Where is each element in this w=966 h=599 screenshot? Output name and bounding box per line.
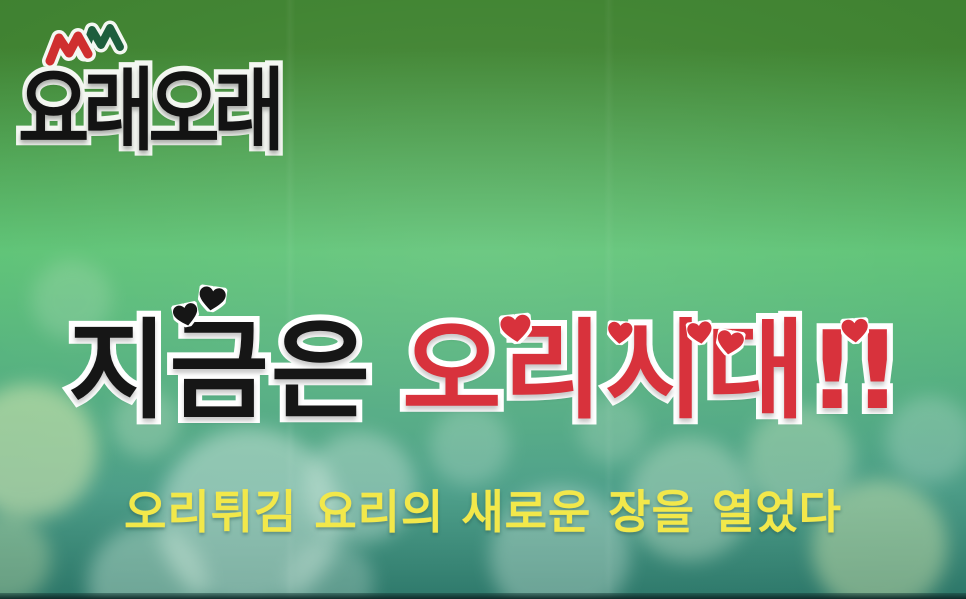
headline-exclamation: !!	[808, 318, 899, 426]
headline-part-black: 지금은	[68, 318, 372, 426]
main-headline: 지금은오리시대!!	[0, 318, 966, 426]
banner-image: 요래오래 지금은오리시대!! 오리튀김 요리의 새로운 장을 열었다	[0, 0, 966, 599]
brand-logo[interactable]: 요래오래	[18, 8, 318, 178]
headline-part-red: 오리시대	[402, 318, 807, 426]
subtitle-line: 오리튀김 요리의 새로운 장을 열었다	[0, 487, 966, 538]
logo-wordmark: 요래오래	[18, 66, 314, 156]
